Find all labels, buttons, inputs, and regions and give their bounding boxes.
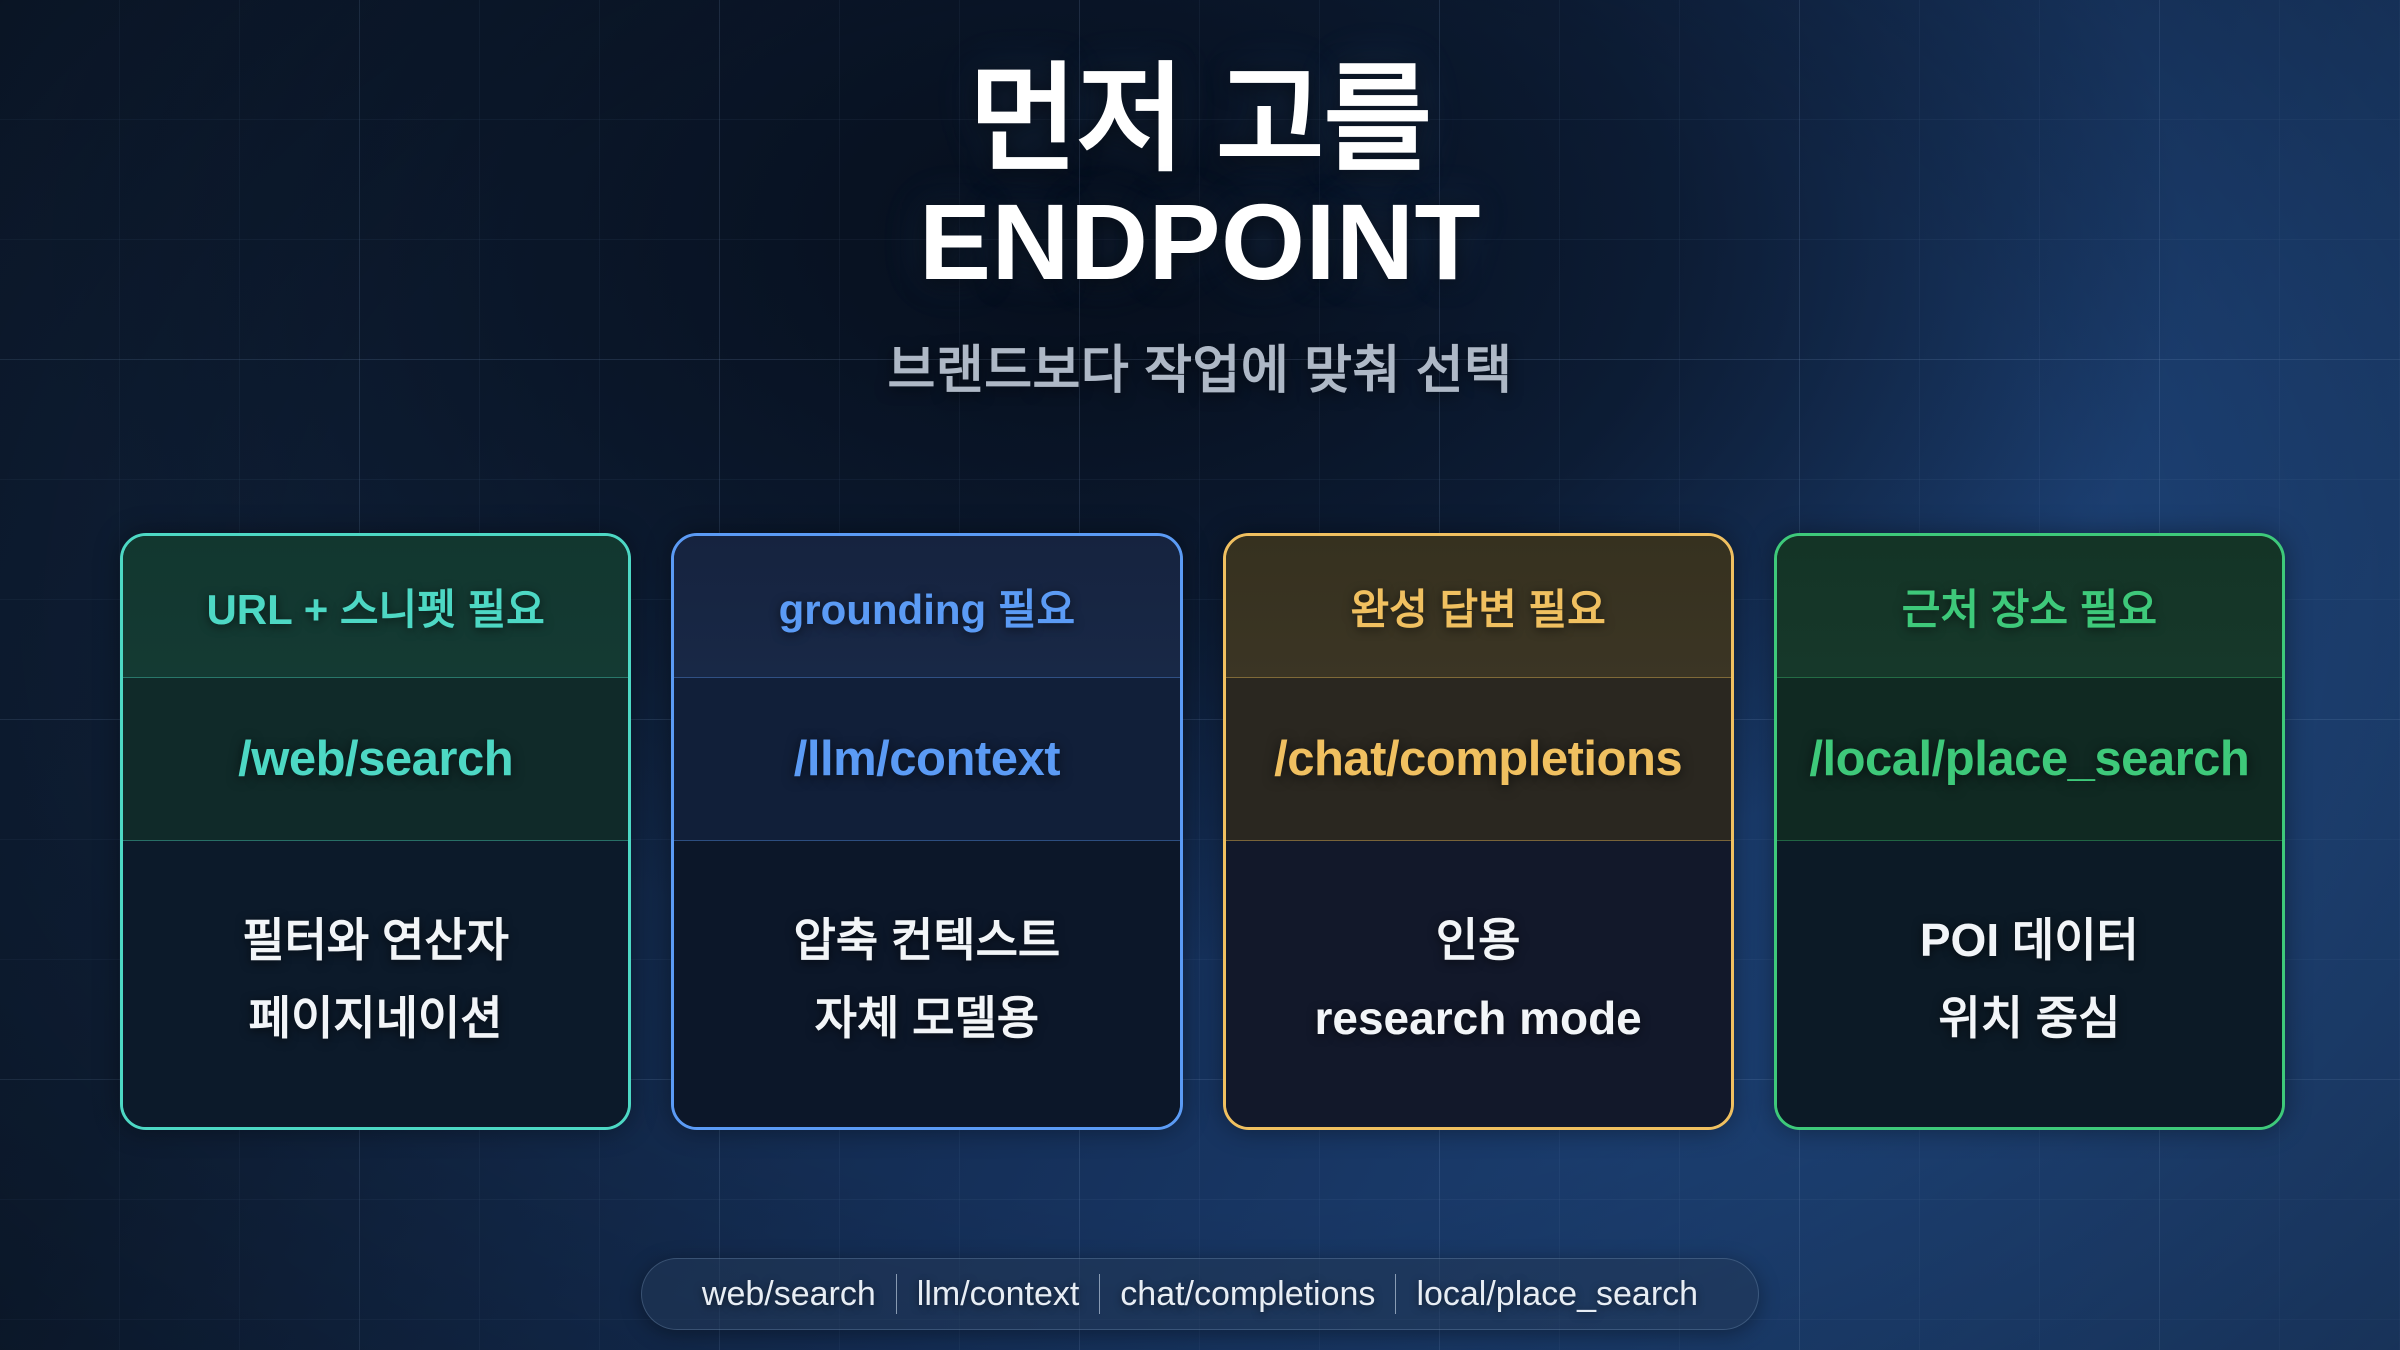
slide-header: 먼저 고를 ENDPOINT 브랜드보다 작업에 맞춰 선택 <box>0 0 2400 403</box>
endpoint-card-local-place-search[interactable]: 근처 장소 필요 /local/place_search POI 데이터 위치 … <box>1774 533 2285 1130</box>
card-condition-label: grounding 필요 <box>674 536 1179 678</box>
pill-item-local-place-search[interactable]: local/place_search <box>1396 1275 1718 1314</box>
card-feature-item: research mode <box>1314 993 1641 1045</box>
subtitle: 브랜드보다 작업에 맞춰 선택 <box>0 328 2400 403</box>
card-feature-item: 압축 컨텍스트 <box>794 915 1061 967</box>
card-feature-list: 필터와 연산자 페이지네이션 <box>123 841 628 1127</box>
slide-canvas: 먼저 고를 ENDPOINT 브랜드보다 작업에 맞춰 선택 URL + 스니펫… <box>0 0 2400 1350</box>
card-endpoint-path: /local/place_search <box>1777 678 2282 841</box>
card-condition-label: URL + 스니펫 필요 <box>123 536 628 678</box>
card-feature-item: 자체 모델용 <box>815 993 1039 1045</box>
footer-bar: web/search llm/context chat/completions … <box>0 1258 2400 1330</box>
card-feature-item: 인용 <box>1436 915 1521 967</box>
title-korean: 먼저 고를 <box>0 58 2400 183</box>
card-endpoint-path: /chat/completions <box>1226 678 1731 841</box>
card-feature-item: 필터와 연산자 <box>242 915 509 967</box>
card-feature-item: 페이지네이션 <box>249 993 503 1045</box>
pill-item-llm-context[interactable]: llm/context <box>897 1275 1100 1314</box>
card-feature-list: POI 데이터 위치 중심 <box>1777 841 2282 1127</box>
card-condition-label: 근처 장소 필요 <box>1777 536 2282 678</box>
card-endpoint-path: /web/search <box>123 678 628 841</box>
card-feature-list: 인용 research mode <box>1226 841 1731 1127</box>
title-english: ENDPOINT <box>0 183 2400 302</box>
card-feature-list: 압축 컨텍스트 자체 모델용 <box>674 841 1179 1127</box>
card-feature-item: 위치 중심 <box>1938 993 2120 1045</box>
endpoint-card-web-search[interactable]: URL + 스니펫 필요 /web/search 필터와 연산자 페이지네이션 <box>120 533 631 1130</box>
card-condition-label: 완성 답변 필요 <box>1226 536 1731 678</box>
card-feature-item: POI 데이터 <box>1920 915 2139 967</box>
card-endpoint-path: /llm/context <box>674 678 1179 841</box>
endpoint-summary-pill[interactable]: web/search llm/context chat/completions … <box>641 1258 1759 1330</box>
endpoint-card-chat-completions[interactable]: 완성 답변 필요 /chat/completions 인용 research m… <box>1223 533 1734 1130</box>
endpoint-card-row: URL + 스니펫 필요 /web/search 필터와 연산자 페이지네이션 … <box>120 533 2285 1130</box>
pill-item-chat-completions[interactable]: chat/completions <box>1100 1275 1395 1314</box>
pill-item-web-search[interactable]: web/search <box>682 1275 896 1314</box>
endpoint-card-llm-context[interactable]: grounding 필요 /llm/context 압축 컨텍스트 자체 모델용 <box>671 533 1182 1130</box>
